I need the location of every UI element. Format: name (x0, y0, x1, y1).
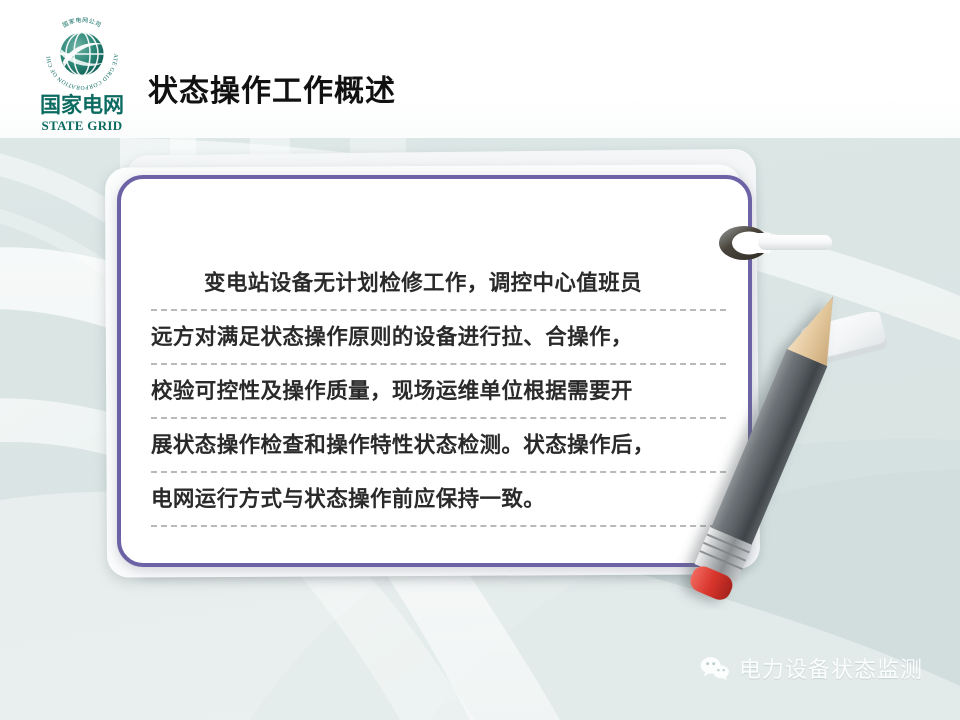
globe-icon: 国家电网公司 STATE GRID CORPORATION OF CHINA (42, 14, 122, 94)
state-grid-logo: 国家电网公司 STATE GRID CORPORATION OF CHINA 国… (26, 14, 138, 130)
svg-text:国家电网公司: 国家电网公司 (61, 16, 102, 29)
paper-clip-icon (718, 222, 836, 266)
watermark: 电力设备状态监测 (700, 652, 923, 684)
pencil-icon (620, 280, 920, 610)
watermark-text: 电力设备状态监测 (739, 652, 923, 684)
logo-chinese-name: 国家电网 (26, 94, 138, 116)
slide: 国家电网公司 STATE GRID CORPORATION OF CHINA 国… (0, 0, 960, 720)
wechat-icon (700, 655, 730, 681)
header-background (0, 0, 960, 138)
page-title: 状态操作工作概述 (148, 66, 396, 110)
logo-english-name: STATE GRID (26, 118, 138, 134)
slide-header: 国家电网公司 STATE GRID CORPORATION OF CHINA 国… (0, 0, 960, 138)
